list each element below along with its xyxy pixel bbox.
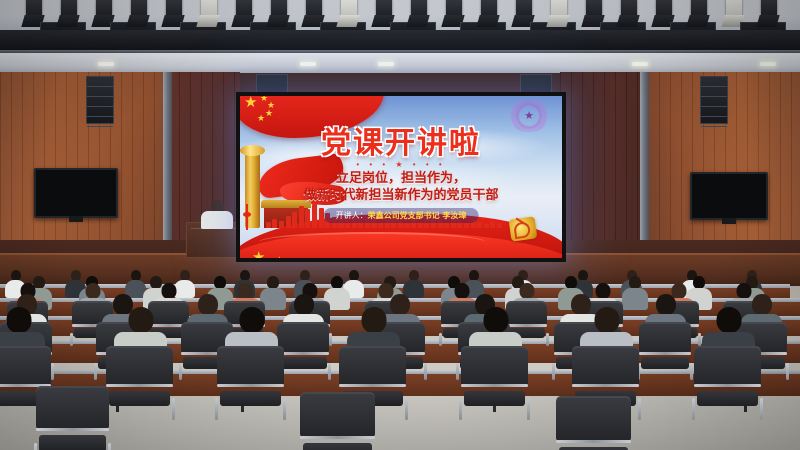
skyline-building [464,223,469,228]
ceiling-downlight [98,62,114,66]
audience-chair[interactable] [639,322,691,372]
led-subtitle: 立足岗位，担当作为， 做新时代新担当新作为的党员干部 [240,170,562,204]
led-speaker-bar: 开讲人：荣鑫公司党支部书记 李汝璋 [324,208,479,223]
chair-frame-right [760,398,763,420]
chair-frame-left [94,363,97,380]
skyline-building [404,223,409,228]
line-array-speaker-right [700,76,728,124]
led-subtitle-line-2: 做新时代新担当新作为的党员干部 [240,187,562,204]
chair-back [277,322,329,353]
led-speaker-name: 荣鑫公司党支部书记 李汝璋 [368,211,467,220]
stage-spotlight [411,0,427,20]
skyline-building [305,209,310,228]
stage-spotlight [61,0,77,20]
skyline-building [312,204,317,228]
ceiling-downlight [378,62,394,66]
led-dot-divider: • • • ★ • • • [240,160,562,169]
chair-back [639,322,691,353]
skyline-building [319,208,324,228]
chair-armrest [36,428,109,431]
chair-back [106,346,173,386]
skyline-building [497,223,502,228]
led-screen: ★ ★ ★ ★ ★ ★ ★★★★★ 党课开讲啦 • • • ★ • • • [236,92,566,262]
wall-monitor-right[interactable] [690,172,768,220]
audience-head [656,294,676,315]
chair-frame-right [108,443,111,450]
skyline-building [484,224,489,228]
chair-frame-left [70,333,73,346]
stage-light-rail [0,0,800,30]
chair-seat [464,391,526,406]
gold-star-icon: ★ [252,248,265,258]
presenter-body [201,211,233,229]
skyline-building [272,219,277,228]
skyline-building [286,216,291,228]
chair-frame-right [786,363,789,380]
chair-seat [303,443,372,450]
stage-spotlight [236,0,252,20]
audience-head [128,307,153,333]
stage-spotlight [516,0,532,20]
chair-armrest [556,440,631,443]
skyline-building [490,221,495,228]
stage-spotlight [691,0,707,20]
audience-head [716,307,741,333]
chair-armrest [694,384,761,387]
chair-seat [220,391,282,406]
chair-frame-left [34,443,37,450]
chair-armrest [639,352,691,355]
wall-monitor-left[interactable] [34,168,118,218]
gold-star-icon: ★ [274,254,285,258]
skyline-building [477,222,482,228]
ceiling-downlight [632,62,648,66]
stage-spotlight [481,0,497,20]
stage-spotlight [621,0,637,20]
audience-chair[interactable] [694,346,761,410]
chair-back [300,392,375,437]
stage-spotlight [131,0,147,20]
audience-head [294,294,314,315]
audience-head [483,307,508,333]
chair-back [0,346,51,386]
skyline-building [299,206,304,228]
chair-back [217,346,284,386]
ceiling-downlight [760,62,776,66]
chair-frame-right [690,363,693,380]
chair-seat [697,391,759,406]
audience-head [238,283,253,299]
chair-frame-left [439,333,442,346]
presenter [200,200,234,228]
chair-frame-right [424,363,427,380]
stage-spotlight [306,0,322,20]
chair-frame-left [459,398,462,420]
ceiling-downlight [300,62,316,66]
stage-spotlight [586,0,602,20]
chair-armrest [300,436,375,439]
led-screen-content: ★ ★ ★ ★ ★ ★ ★★★★★ 党课开讲啦 • • • ★ • • • [240,96,562,258]
empty-chair[interactable] [300,392,375,450]
stage-spotlight [761,0,777,20]
chair-frame-right [546,333,549,346]
stage-spotlight [551,0,567,20]
chair-frame-right [698,333,701,346]
chair-frame-left [456,363,459,380]
audience-head [162,283,177,299]
chair-back [572,346,639,386]
empty-chair[interactable] [36,386,109,450]
chair-frame-right [329,333,332,346]
skyline-building [292,212,297,228]
audience-head [86,283,101,299]
stage-spotlight [341,0,357,20]
empty-chair[interactable] [556,396,631,450]
chair-frame-left [692,398,695,420]
chair-frame-right [328,363,331,380]
audience-chair[interactable] [106,346,173,410]
audience-head [520,283,535,299]
ceiling-soffit [0,53,800,73]
audience-head [239,307,264,333]
stage-spotlight [656,0,672,20]
chair-armrest [461,384,528,387]
chair-frame-right [405,398,408,420]
audience-chair[interactable] [217,346,284,410]
chair-frame-right [638,398,641,420]
led-subtitle-line-1: 立足岗位，担当作为， [240,170,562,187]
audience-head [594,307,619,333]
chair-back [694,346,761,386]
chair-frame-right [283,398,286,420]
cpc-emblem-icon [509,216,538,241]
chair-frame-right [172,398,175,420]
stage-spotlight [166,0,182,20]
tv-tower-icon [246,204,248,230]
audience-head [361,307,386,333]
led-speaker-label: 开讲人： [336,211,368,220]
audience-head [6,307,31,333]
chair-frame-left [179,363,182,380]
chair-seat [641,357,689,369]
chair-frame-right [527,398,530,420]
chair-back [36,386,109,429]
stage-spotlight [96,0,112,20]
chair-frame-left [552,363,555,380]
audience-chair[interactable] [277,322,329,372]
stage-spotlight [271,0,287,20]
chair-armrest [572,384,639,387]
chair-back [339,346,406,386]
chair-back [461,346,528,386]
stage-spotlight [446,0,462,20]
chair-armrest [217,384,284,387]
stage-spotlight [201,0,217,20]
audience-chair[interactable] [461,346,528,410]
ceiling-beam [0,30,800,52]
chair-back [556,396,631,441]
line-array-speaker-left [86,76,114,124]
stage-spotlight [26,0,42,20]
skyline-building [266,222,271,228]
chair-armrest [339,384,406,387]
audience-head [198,294,218,315]
chair-seat [39,435,106,450]
chair-frame-right [51,363,54,380]
chair-seat [279,357,327,369]
skyline-building [279,221,284,228]
conference-hall-photo: ★ ★ ★ ★ ★ ★ ★★★★★ 党课开讲啦 • • • ★ • • • [0,0,800,450]
stage-spotlight [726,0,742,20]
chair-armrest [106,384,173,387]
chair-seat [109,391,171,406]
chair-armrest [277,352,329,355]
chair-frame-left [215,398,218,420]
led-main-title: 党课开讲啦 [240,118,562,162]
stage-spotlight [376,0,392,20]
